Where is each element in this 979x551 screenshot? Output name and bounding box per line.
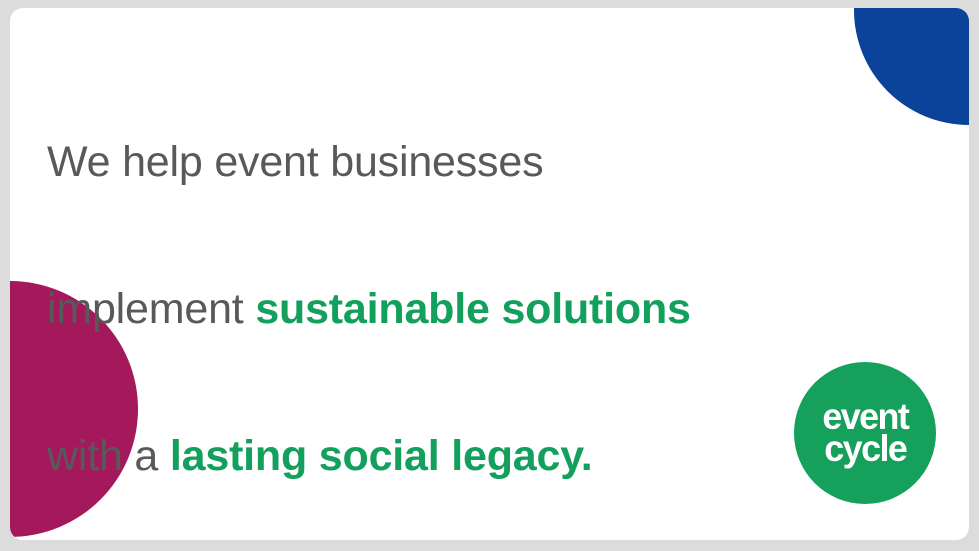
blue-quarter-circle-decoration bbox=[854, 8, 969, 125]
headline-line-2-emphasis: sustainable solutions bbox=[255, 285, 690, 333]
headline-line-3: with a lasting social legacy. bbox=[47, 432, 747, 481]
headline-line-1: We help event businesses bbox=[47, 138, 747, 187]
headline-line-2-plain: implement bbox=[47, 285, 255, 333]
headline-line-3-emphasis: lasting social legacy. bbox=[170, 432, 593, 480]
slide-canvas: We help event businesses implement susta… bbox=[0, 0, 979, 551]
headline-line-1-text: We help event businesses bbox=[47, 138, 543, 186]
logo-text-line-2: cycle bbox=[824, 433, 906, 465]
headline: We help event businesses implement susta… bbox=[47, 40, 747, 540]
content-card: We help event businesses implement susta… bbox=[10, 8, 969, 540]
headline-line-3-plain: with a bbox=[47, 432, 170, 480]
event-cycle-logo: event cycle bbox=[794, 362, 936, 504]
headline-line-2: implement sustainable solutions bbox=[47, 285, 747, 334]
